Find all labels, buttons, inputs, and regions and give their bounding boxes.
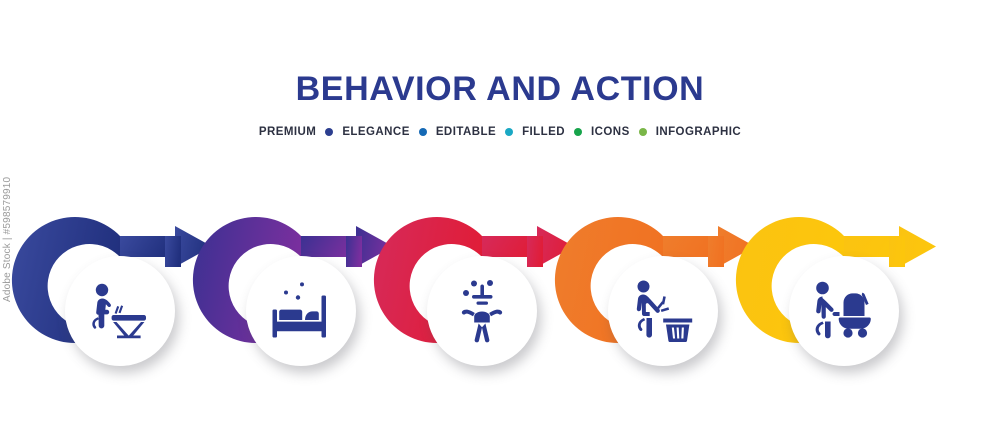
bed-sleeping-icon bbox=[269, 281, 333, 341]
legend-dot-editable bbox=[419, 128, 427, 136]
icon-bubble-4[interactable] bbox=[608, 256, 718, 366]
infographic-item-5[interactable] bbox=[771, 226, 961, 386]
legend-label-elegance: ELEGANCE bbox=[342, 126, 410, 138]
legend: PREMIUMELEGANCEEDITABLEFILLEDICONSINFOGR… bbox=[0, 126, 1000, 138]
confused-shrugging-person-icon bbox=[449, 279, 515, 343]
legend-label-filled: FILLED bbox=[522, 126, 565, 138]
legend-label-infographic: INFOGRAPHIC bbox=[656, 126, 741, 138]
barbecue-grill-person-icon bbox=[89, 282, 151, 340]
legend-label-editable: EDITABLE bbox=[436, 126, 496, 138]
icon-bubble-5[interactable] bbox=[789, 256, 899, 366]
throw-trash-in-bin-icon bbox=[630, 280, 696, 342]
legend-dot-elegance bbox=[325, 128, 333, 136]
icon-bubble-3[interactable] bbox=[427, 256, 537, 366]
legend-label-premium: PREMIUM bbox=[259, 126, 316, 138]
person-pushing-stroller-icon bbox=[810, 281, 878, 341]
legend-dot-filled bbox=[505, 128, 513, 136]
page-title: BEHAVIOR AND ACTION bbox=[0, 0, 1000, 108]
infographic-items bbox=[0, 226, 1000, 386]
legend-label-icons: ICONS bbox=[591, 126, 630, 138]
icon-bubble-2[interactable] bbox=[246, 256, 356, 366]
legend-dot-infographic bbox=[639, 128, 647, 136]
icon-bubble-1[interactable] bbox=[65, 256, 175, 366]
legend-dot-icons bbox=[574, 128, 582, 136]
header: BEHAVIOR AND ACTION bbox=[0, 0, 1000, 108]
